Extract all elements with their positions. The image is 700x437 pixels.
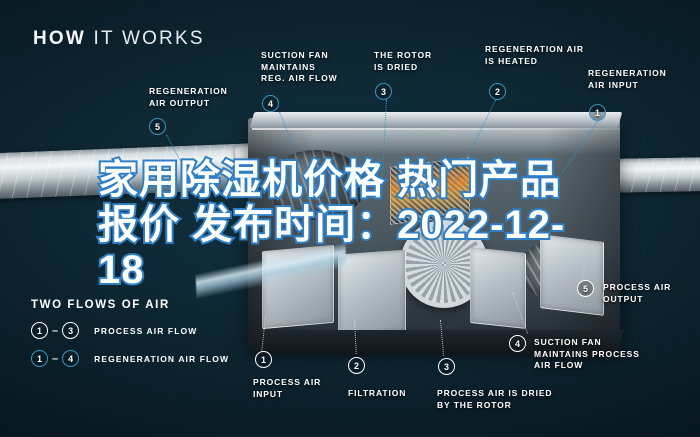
callout-marker-3-bottom[interactable]: 3	[438, 358, 455, 375]
callout-label-regeneration-air-output: REGENERATION AIR OUTPUT	[149, 86, 228, 109]
callout-label-suction-fan-process: SUCTION FAN MAINTAINS PROCESS AIR FLOW	[534, 337, 640, 372]
page-title-thin: IT WORKS	[86, 28, 205, 49]
legend-marker-to-3: 3	[62, 322, 79, 339]
legend-label-process-air-flow: PROCESS AIR FLOW	[94, 326, 197, 336]
callout-marker-3-top[interactable]: 3	[375, 83, 392, 100]
legend-row-process-air-flow: 1 – 3 PROCESS AIR FLOW	[31, 322, 229, 339]
unit-frame-line	[252, 128, 620, 130]
callout-label-process-air-dried: PROCESS AIR IS DRIED BY THE ROTOR	[437, 388, 552, 411]
page-title: HOW IT WORKS	[33, 28, 205, 50]
dehumidifier-unit-top	[250, 112, 623, 128]
callout-marker-4-bottom[interactable]: 4	[509, 335, 526, 352]
page-title-bold: HOW	[33, 28, 86, 49]
callout-marker-4-top[interactable]: 4	[262, 95, 279, 112]
callout-marker-2-bottom[interactable]: 2	[348, 357, 365, 374]
chinese-overlay-text: 家用除湿机价格 热门产品报价 发布时间：2022-12-18	[98, 158, 598, 293]
legend-label-regeneration-air-flow: REGENERATION AIR FLOW	[94, 354, 229, 364]
callout-label-regeneration-input: REGENERATION AIR INPUT	[588, 68, 667, 91]
callout-marker-5-top[interactable]: 5	[149, 118, 166, 135]
callout-label-filtration: FILTRATION	[348, 388, 406, 400]
legend-title: TWO FLOWS OF AIR	[31, 299, 229, 311]
callout-label-regeneration-heated: REGENERATION AIR IS HEATED	[485, 44, 584, 67]
legend-marker-from-1: 1	[31, 322, 48, 339]
infographic-canvas: HOW IT WORKS REGENERATION AIR OUTPUT 5 S…	[0, 0, 700, 437]
callout-marker-1-bottom[interactable]: 1	[255, 351, 272, 368]
legend-dash-2: –	[52, 353, 58, 365]
callout-label-suction-fan-reg: SUCTION FAN MAINTAINS REG. AIR FLOW	[261, 50, 338, 85]
legend-row-regeneration-air-flow: 1 – 4 REGENERATION AIR FLOW	[31, 350, 229, 367]
legend-dash-1: –	[52, 325, 58, 337]
callout-marker-2-top[interactable]: 2	[489, 83, 506, 100]
legend-marker-from-1-blue: 1	[31, 350, 48, 367]
callout-label-process-air-input: PROCESS AIR INPUT	[253, 377, 321, 400]
callout-label-process-air-output: PROCESS AIR OUTPUT	[603, 282, 671, 305]
callout-label-rotor-dried: THE ROTOR IS DRIED	[374, 50, 432, 73]
callout-marker-1-top[interactable]: 1	[589, 104, 606, 121]
legend-marker-to-4-blue: 4	[62, 350, 79, 367]
legend-two-flows: TWO FLOWS OF AIR 1 – 3 PROCESS AIR FLOW …	[31, 299, 229, 367]
